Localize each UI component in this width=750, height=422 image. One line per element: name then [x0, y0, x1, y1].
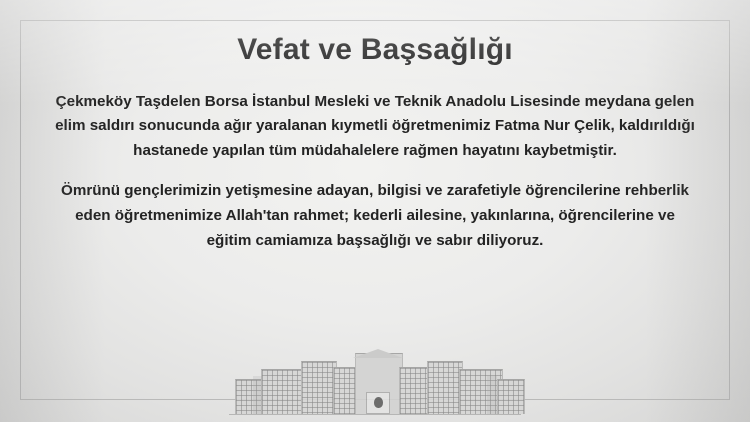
building-ground-line — [229, 414, 521, 415]
school-building-illustration — [0, 342, 750, 414]
building-block-right-mid — [427, 361, 463, 414]
paragraph-1: Çekmeköy Taşdelen Borsa İstanbul Mesleki… — [42, 90, 708, 164]
building-shade-left — [253, 376, 263, 414]
paragraph-2: Ömrünü gençlerimizin yetişmesine adayan,… — [42, 179, 708, 253]
building-shade-right — [487, 376, 497, 414]
building-block-right-far — [497, 379, 525, 414]
page-title: Vefat ve Başsağlığı — [42, 33, 708, 68]
condolence-poster: Vefat ve Başsağlığı Çekmeköy Taşdelen Bo… — [0, 0, 750, 422]
building-group — [235, 348, 515, 414]
building-block-left-mid — [301, 361, 337, 414]
building-pediment — [353, 349, 403, 358]
emblem-icon — [374, 397, 383, 408]
building-block-left — [261, 369, 305, 414]
